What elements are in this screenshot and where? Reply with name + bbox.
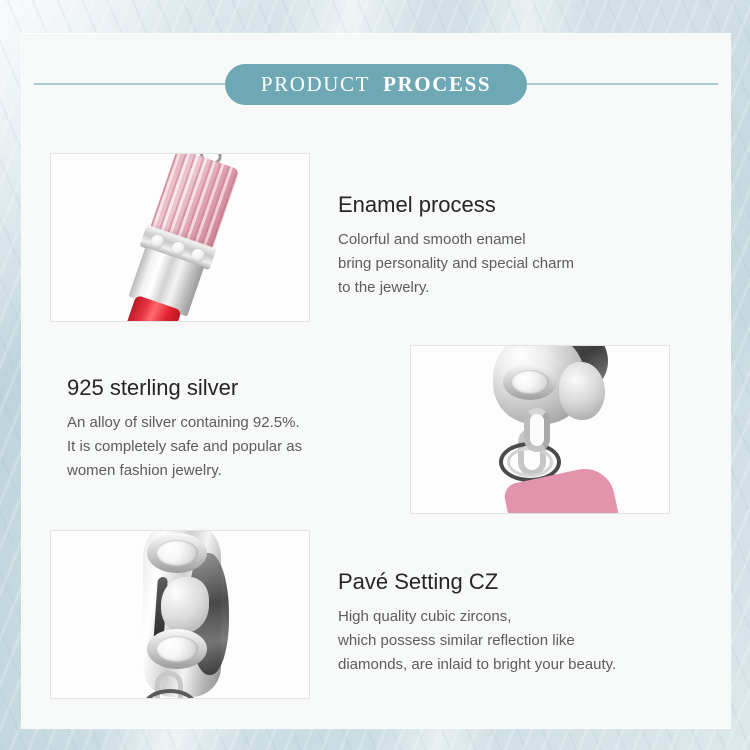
header-rule-right bbox=[513, 83, 718, 85]
silver-bail-illustration bbox=[411, 346, 669, 513]
feature-body-line: An alloy of silver containing 92.5%. bbox=[67, 411, 410, 435]
section-title-word-process: PROCESS bbox=[383, 72, 491, 97]
feature-body-line: It is completely safe and popular as bbox=[67, 435, 410, 459]
bail-side-lobe bbox=[559, 362, 605, 420]
bail-stem-loop bbox=[524, 408, 550, 452]
pave-cz-clip-closeup-photo bbox=[50, 530, 310, 699]
feature-title: 925 sterling silver bbox=[67, 374, 410, 402]
cz-stone-icon bbox=[156, 540, 198, 566]
section-title-pill: PRODUCT PROCESS bbox=[225, 64, 527, 105]
cz-stone-icon bbox=[170, 239, 187, 256]
infographic-card: PRODUCT PROCESS Enamel process Colorful … bbox=[22, 34, 730, 728]
feature-body-line: bring personality and special charm bbox=[338, 252, 670, 276]
feature-row-enamel-process: Enamel process Colorful and smooth ename… bbox=[50, 153, 670, 322]
pave-clip-mid-lobe bbox=[161, 577, 209, 633]
section-title-word-product: PRODUCT bbox=[261, 72, 370, 97]
cz-stone-icon bbox=[511, 370, 549, 394]
feature-text-sterling-silver: 925 sterling silver An alloy of silver c… bbox=[50, 345, 410, 484]
pave-clip-illustration bbox=[51, 531, 309, 698]
feature-body-line: which possess similar reflection like bbox=[338, 629, 670, 653]
pave-cz-bezel-top bbox=[147, 533, 207, 573]
pink-lipstick-charm-photo bbox=[50, 153, 310, 322]
section-header: PRODUCT PROCESS bbox=[22, 61, 730, 107]
feature-body-line: High quality cubic zircons, bbox=[338, 605, 670, 629]
feature-body-line: to the jewelry. bbox=[338, 276, 670, 300]
feature-body-line: diamonds, are inlaid to bright your beau… bbox=[338, 653, 670, 677]
header-rule-left bbox=[34, 83, 239, 85]
bail-inner-ring bbox=[507, 447, 553, 477]
feature-body-line: Colorful and smooth enamel bbox=[338, 228, 670, 252]
pave-cz-bezel-bottom bbox=[147, 629, 207, 669]
cz-stone-icon bbox=[156, 636, 198, 662]
feature-title: Enamel process bbox=[338, 191, 670, 219]
cz-stone-icon bbox=[149, 232, 166, 249]
feature-body-line: women fashion jewelry. bbox=[67, 459, 410, 483]
feature-text-enamel-process: Enamel process Colorful and smooth ename… bbox=[310, 153, 670, 301]
feature-row-pave-setting-cz: Pavé Setting CZ High quality cubic zirco… bbox=[50, 530, 670, 699]
lipstick-charm-illustration bbox=[113, 153, 254, 322]
feature-title: Pavé Setting CZ bbox=[338, 568, 670, 596]
feature-row-sterling-silver: 925 sterling silver An alloy of silver c… bbox=[50, 345, 670, 514]
silver-bail-closeup-photo bbox=[410, 345, 670, 514]
bail-cz-bezel bbox=[503, 364, 557, 400]
cz-stone-icon bbox=[190, 246, 207, 263]
feature-text-pave-setting-cz: Pavé Setting CZ High quality cubic zirco… bbox=[310, 530, 670, 678]
